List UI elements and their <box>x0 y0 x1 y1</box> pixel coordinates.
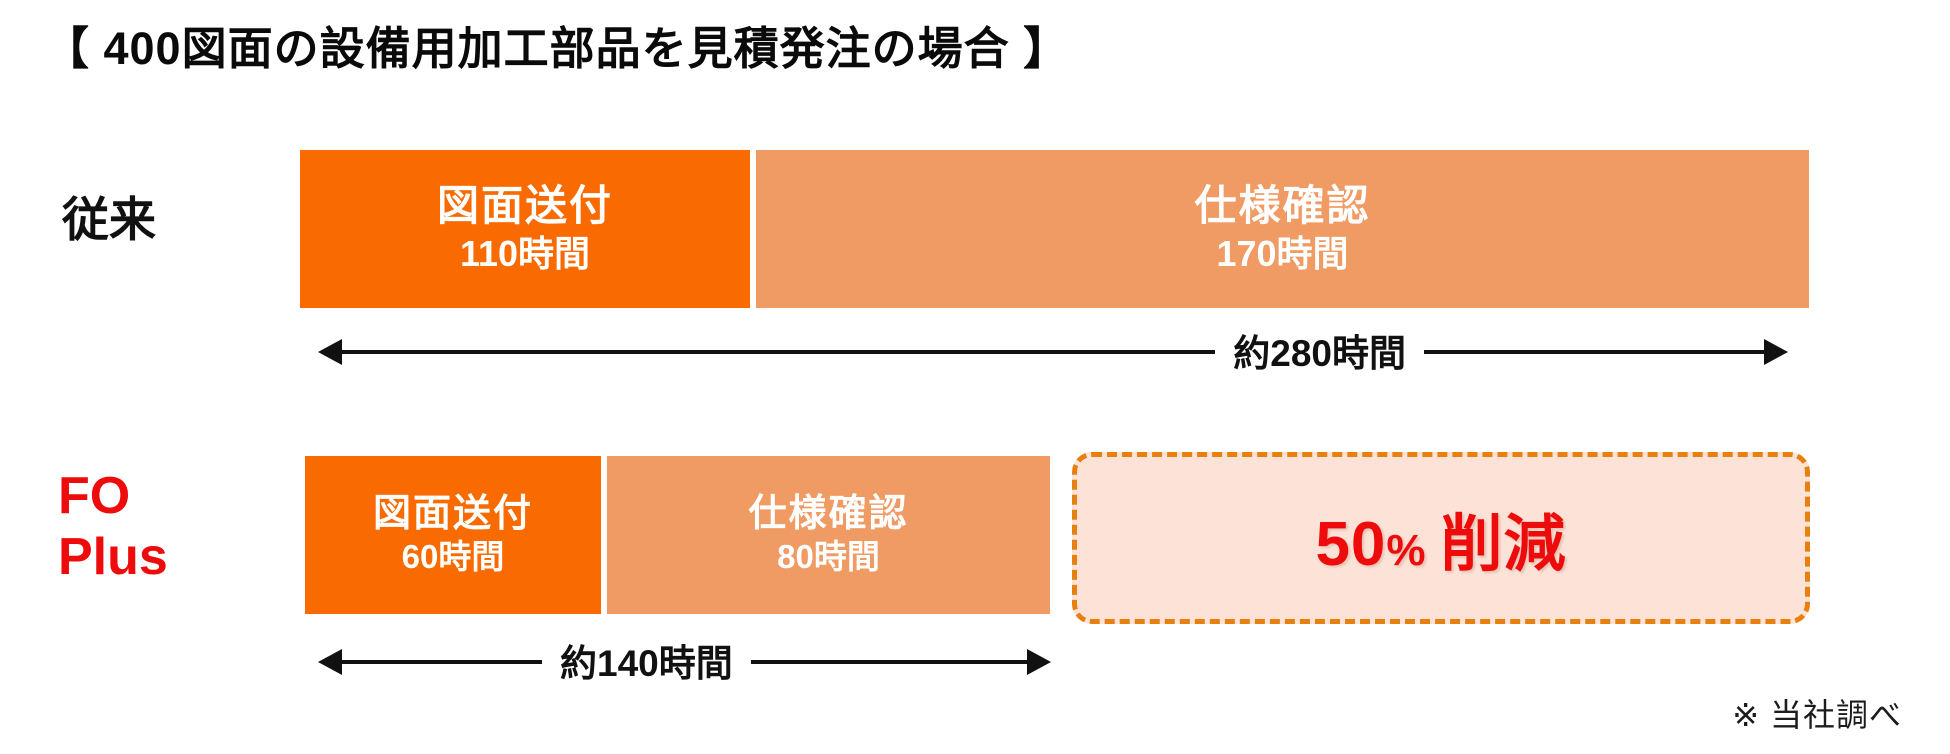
bar-segment-value: 170時間 <box>1216 234 1348 274</box>
reduction-number: 50 <box>1315 510 1386 579</box>
total-duration-label: 約140時間 <box>542 633 751 687</box>
bar-segment-value: 60時間 <box>402 539 505 575</box>
arrow-left-head-icon <box>318 339 342 365</box>
total-arrow-foplus: 約140時間 <box>318 632 1051 692</box>
reduction-callout-box: 50%削減 <box>1072 452 1810 624</box>
bar-segment-legacy-drawing-send: 図面送付 110時間 <box>300 150 750 308</box>
arrow-line-right <box>1424 350 1764 354</box>
arrow-left-head-icon <box>318 649 342 675</box>
arrow-line-left <box>342 660 542 664</box>
bar-segment-value: 80時間 <box>777 539 880 575</box>
bar-segment-label: 仕様確認 <box>1194 184 1370 228</box>
bar-segment-foplus-spec-check: 仕様確認 80時間 <box>607 456 1050 614</box>
row-label-legacy: 従来 <box>62 196 156 243</box>
bar-segment-value: 110時間 <box>460 234 590 274</box>
page-title: 【 400図面の設備用加工部品を見積発注の場合 】 <box>44 12 1069 77</box>
bar-segment-foplus-drawing-send: 図面送付 60時間 <box>305 456 601 614</box>
reduction-percent-sign: % <box>1386 526 1426 575</box>
arrow-right-head-icon <box>1027 649 1051 675</box>
bar-segment-label: 仕様確認 <box>748 495 908 535</box>
reduction-word: 削減 <box>1441 510 1567 579</box>
bar-segment-label: 図面送付 <box>437 184 613 228</box>
arrow-line-left <box>342 350 1215 354</box>
arrow-right-head-icon <box>1764 339 1788 365</box>
total-arrow-legacy: 約280時間 <box>318 322 1788 382</box>
total-duration-label: 約280時間 <box>1215 323 1424 377</box>
reduction-callout-text: 50%削減 <box>1315 493 1566 583</box>
bar-segment-legacy-spec-check: 仕様確認 170時間 <box>756 150 1809 308</box>
row-label-fo-plus: FO Plus <box>58 466 168 589</box>
arrow-line-right <box>751 660 1027 664</box>
bar-segment-label: 図面送付 <box>373 495 533 535</box>
source-note: ※ 当社調べ <box>1732 690 1902 736</box>
